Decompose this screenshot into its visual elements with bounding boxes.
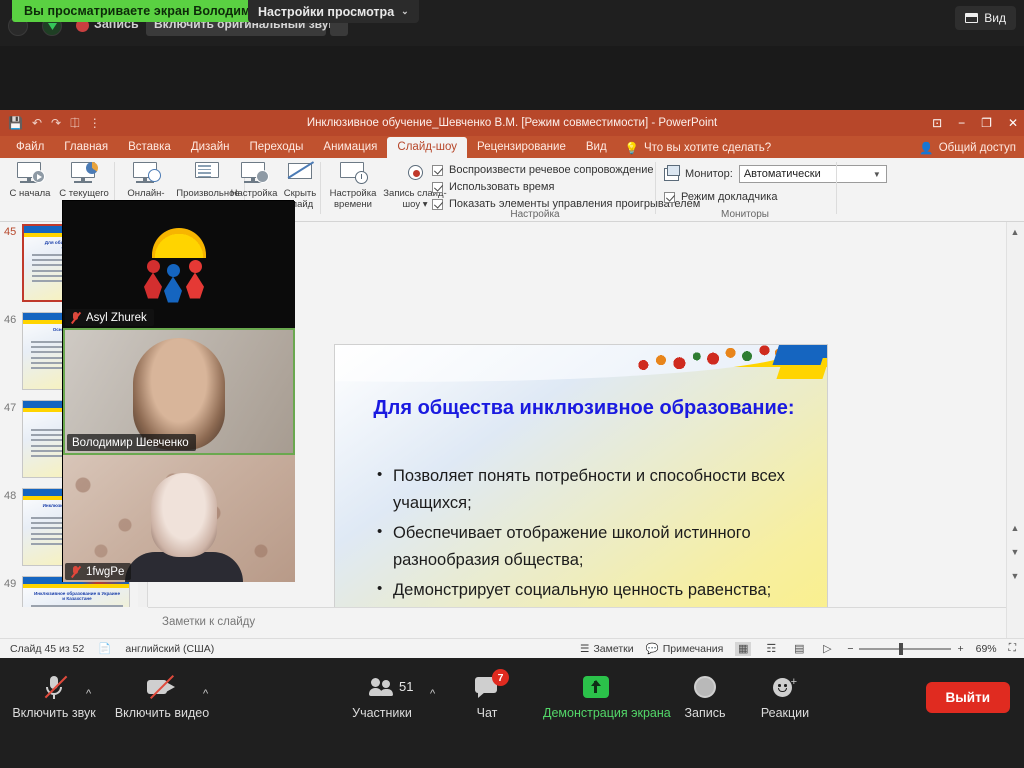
chat-button[interactable]: 7 Чат <box>435 672 539 720</box>
notes-toggle-button[interactable]: ☰ Заметки <box>580 643 634 655</box>
share-label: Общий доступ <box>939 142 1016 154</box>
zoom-video-panel[interactable]: Asyl Zhurek Володимир Шевченко 1fwgPe <box>62 200 294 582</box>
checkbox-play-narrations-label: Воспроизвести речевое сопровождение <box>449 164 654 176</box>
slide-bullet: Обеспечивает отображение школой истинног… <box>375 520 799 573</box>
zoom-out-button[interactable]: − <box>847 643 853 655</box>
participant-tile[interactable]: Asyl Zhurek <box>63 201 295 328</box>
screen-share-banner-label: Вы просматриваете экран Володим <box>24 4 250 18</box>
monitor-setting: Монитор: Автоматически ▼ <box>664 165 887 183</box>
document-title: Инклюзивное обучение_Шевченко В.М. [Режи… <box>0 110 1024 136</box>
comments-toggle-button[interactable]: 💬 Примечания <box>646 642 724 655</box>
tab-insert[interactable]: Вставка <box>118 137 181 158</box>
zoom-level-label[interactable]: 69% <box>976 643 997 655</box>
figure-icon <box>144 260 162 300</box>
slide-sorter-view-button[interactable]: ☶ <box>763 642 779 656</box>
ribbon-setup-label: Настройка <box>231 188 278 199</box>
hide-slide-icon <box>285 160 315 186</box>
ribbon-rehearse-label: Настройка времени <box>330 188 377 210</box>
spell-check-icon[interactable]: 📄 <box>98 642 111 655</box>
reactions-icon: + <box>733 672 837 702</box>
zoom-in-button[interactable]: + <box>957 643 963 655</box>
fit-to-window-icon[interactable]: ⛶ <box>1009 642 1016 655</box>
thumbnail-number: 46 <box>4 314 16 326</box>
ribbon-tabs: Файл Главная Вставка Дизайн Переходы Ани… <box>0 136 1024 158</box>
participant-name-badge: 1fwgPe <box>65 563 131 580</box>
monitor-select-value: Автоматически <box>744 168 821 180</box>
language-label[interactable]: английский (США) <box>125 643 214 655</box>
slide-counter: Слайд 45 из 52 <box>10 643 84 655</box>
notes-icon: ☰ <box>580 643 589 655</box>
figure-icon <box>186 260 204 300</box>
tab-design[interactable]: Дизайн <box>181 137 240 158</box>
slide-bullet: Демонстрирует социальную ценность равенс… <box>375 577 799 604</box>
thumbnail-number: 45 <box>4 226 16 238</box>
figure-icon <box>164 264 182 304</box>
reactions-label: Реакции <box>733 706 837 720</box>
zoom-slider[interactable]: − + <box>847 643 963 655</box>
zoom-slider-handle[interactable] <box>899 643 903 655</box>
view-options-button[interactable]: Настройки просмотра ⌄ <box>248 0 419 23</box>
close-button[interactable]: ✕ <box>1008 116 1018 130</box>
tab-home[interactable]: Главная <box>54 137 118 158</box>
restore-button[interactable]: ❐ <box>981 116 992 130</box>
screen-root: Запись Включить оригинальный звук Вы про… <box>0 0 1024 768</box>
from-current-slide-icon <box>69 160 99 186</box>
participant-tile[interactable]: 1fwgPe <box>63 455 295 582</box>
participant-avatar <box>138 224 220 306</box>
reactions-button[interactable]: + Реакции <box>733 672 837 720</box>
ribbon-display-options-icon[interactable]: ⊡ <box>932 116 942 130</box>
setup-slideshow-icon <box>239 160 269 186</box>
powerpoint-status-bar: Слайд 45 из 52 📄 английский (США) ☰ Заме… <box>0 638 1024 658</box>
grid-view-icon <box>965 13 978 23</box>
participant-name: Володимир Шевченко <box>72 437 189 449</box>
monitor-label: Монитор: <box>685 168 733 180</box>
tab-file[interactable]: Файл <box>6 137 54 158</box>
tab-animations[interactable]: Анимация <box>313 137 387 158</box>
start-video-button[interactable]: Включить видео <box>110 672 214 720</box>
participant-name: 1fwgPe <box>86 566 124 578</box>
checkbox-use-timings[interactable]: Использовать время <box>432 181 554 193</box>
ribbon-rehearse-timings[interactable]: Настройка времени <box>322 160 384 210</box>
participant-name-badge: Володимир Шевченко <box>67 434 196 451</box>
ribbon-from-beginning-label: С начала <box>10 188 51 199</box>
start-video-label: Включить видео <box>110 706 214 720</box>
view-options-label: Настройки просмотра <box>258 5 394 19</box>
layout-view-label: Вид <box>984 11 1006 25</box>
chevron-down-icon: ▼ <box>873 170 881 179</box>
minimize-button[interactable]: − <box>958 116 965 130</box>
comments-toggle-label: Примечания <box>663 643 724 655</box>
next-slide-icon[interactable]: ▼ <box>1009 546 1021 558</box>
slide-title[interactable]: Для общества инклюзивное образование: <box>371 393 797 423</box>
tab-transitions[interactable]: Переходы <box>239 137 313 158</box>
custom-slideshow-icon <box>193 160 223 186</box>
reading-view-button[interactable]: ▤ <box>791 642 807 656</box>
zoom-bottom-toolbar: Включить звук ^ Включить видео ^ 51 Учас… <box>0 658 1024 768</box>
ribbon-from-beginning[interactable]: С начала <box>2 160 58 200</box>
participant-face <box>151 473 217 557</box>
lightbulb-icon: 💡 <box>625 141 639 155</box>
thumbnail-number: 48 <box>4 490 16 502</box>
share-screen-button[interactable]: Демонстрация экрана <box>543 672 649 720</box>
checkbox-presenter-view[interactable]: Режим докладчика <box>664 191 777 203</box>
microphone-muted-icon <box>70 311 81 324</box>
chevron-down-icon: ⌄ <box>401 6 409 17</box>
participants-icon: 51 <box>330 672 434 702</box>
thumbnail-title: Инклюзивное образование в Украине и Каза… <box>33 591 121 600</box>
tell-me-label: Что вы хотите сделать? <box>644 142 771 154</box>
notes-pane[interactable]: Заметки к слайду <box>148 607 1006 640</box>
video-options-caret-icon[interactable]: ^ <box>203 688 208 700</box>
normal-view-button[interactable]: ▦ <box>735 642 751 656</box>
leave-meeting-button[interactable]: Выйти <box>926 682 1011 713</box>
slide-bullet: Позволяет понять потребности и способнос… <box>375 463 799 516</box>
sun-icon <box>152 228 206 258</box>
ribbon-present-online[interactable]: Онлайн- <box>118 160 174 200</box>
tab-view[interactable]: Вид <box>576 137 617 158</box>
checkbox-presenter-view-box[interactable] <box>664 192 675 203</box>
ribbon-group-monitors-label: Мониторы <box>660 209 830 220</box>
audio-options-caret-icon[interactable]: ^ <box>86 688 91 700</box>
tell-me-search[interactable]: 💡 Что вы хотите сделать? <box>617 138 779 158</box>
notes-toggle-label: Заметки <box>593 643 633 655</box>
thumbnail-number: 47 <box>4 402 16 414</box>
monitor-select[interactable]: Автоматически ▼ <box>739 165 887 183</box>
scroll-down-icon[interactable]: ▼ <box>1009 570 1021 582</box>
slideshow-view-button[interactable]: ▷ <box>819 642 835 656</box>
chat-label: Чат <box>435 706 539 720</box>
powerpoint-title-bar: 💾 ↶ ↷ ⎅ ⋮ Инклюзивное обучение_Шевченко … <box>0 110 1024 136</box>
checkbox-show-media-controls-box[interactable] <box>432 199 443 210</box>
chat-icon: 7 <box>435 672 539 702</box>
checkbox-use-timings-box[interactable] <box>432 182 443 193</box>
tab-review[interactable]: Рецензирование <box>467 137 576 158</box>
ribbon-present-online-label: Онлайн- <box>127 188 164 199</box>
present-online-icon <box>131 160 161 186</box>
checkbox-use-timings-label: Использовать время <box>449 181 554 193</box>
participant-name-badge: Asyl Zhurek <box>65 309 154 326</box>
layout-view-button[interactable]: Вид <box>955 6 1016 30</box>
ribbon-group-setup-label: Настройка <box>420 209 650 220</box>
screen-share-banner: Вы просматриваете экран Володим <box>12 0 262 22</box>
person-add-icon: 👤 <box>919 141 933 155</box>
comment-icon: 💬 <box>646 642 659 655</box>
checkbox-presenter-view-label: Режим докладчика <box>681 191 777 203</box>
rehearse-timings-icon <box>338 160 368 186</box>
participant-name: Asyl Zhurek <box>86 312 147 324</box>
tab-slideshow[interactable]: Слайд-шоу <box>387 137 467 158</box>
monitor-icon <box>664 168 679 181</box>
notes-placeholder: Заметки к слайду <box>162 616 255 628</box>
chat-unread-badge: 7 <box>492 669 509 686</box>
checkbox-play-narrations[interactable]: Воспроизвести речевое сопровождение <box>432 164 654 176</box>
zoom-top-bar: Запись Включить оригинальный звук Вы про… <box>0 0 1024 46</box>
slide-scrollbar[interactable]: ▲ ▲ ▼ ▼ <box>1006 222 1024 640</box>
participants-count: 51 <box>399 679 413 694</box>
from-beginning-icon <box>15 160 45 186</box>
checkbox-play-narrations-box[interactable] <box>432 165 443 176</box>
camera-muted-icon <box>110 672 214 702</box>
unmute-label: Включить звук <box>2 706 106 720</box>
window-controls: ⊡ − ❐ ✕ <box>932 110 1018 136</box>
record-slideshow-icon <box>400 160 430 186</box>
zoom-slider-track[interactable] <box>859 648 951 650</box>
slide-decorative-band <box>335 345 827 391</box>
scroll-up-icon[interactable]: ▲ <box>1009 226 1021 238</box>
participants-label: Участники <box>330 706 434 720</box>
microphone-muted-icon <box>70 565 81 578</box>
thumbnail-number: 49 <box>4 578 16 590</box>
participant-tile-active-speaker[interactable]: Володимир Шевченко <box>63 328 295 455</box>
share-button[interactable]: 👤 Общий доступ <box>919 141 1016 155</box>
participants-button[interactable]: 51 Участники <box>330 672 434 720</box>
previous-slide-icon[interactable]: ▲ <box>1009 522 1021 534</box>
share-screen-icon <box>543 672 649 702</box>
share-screen-label: Демонстрация экрана <box>543 706 649 720</box>
